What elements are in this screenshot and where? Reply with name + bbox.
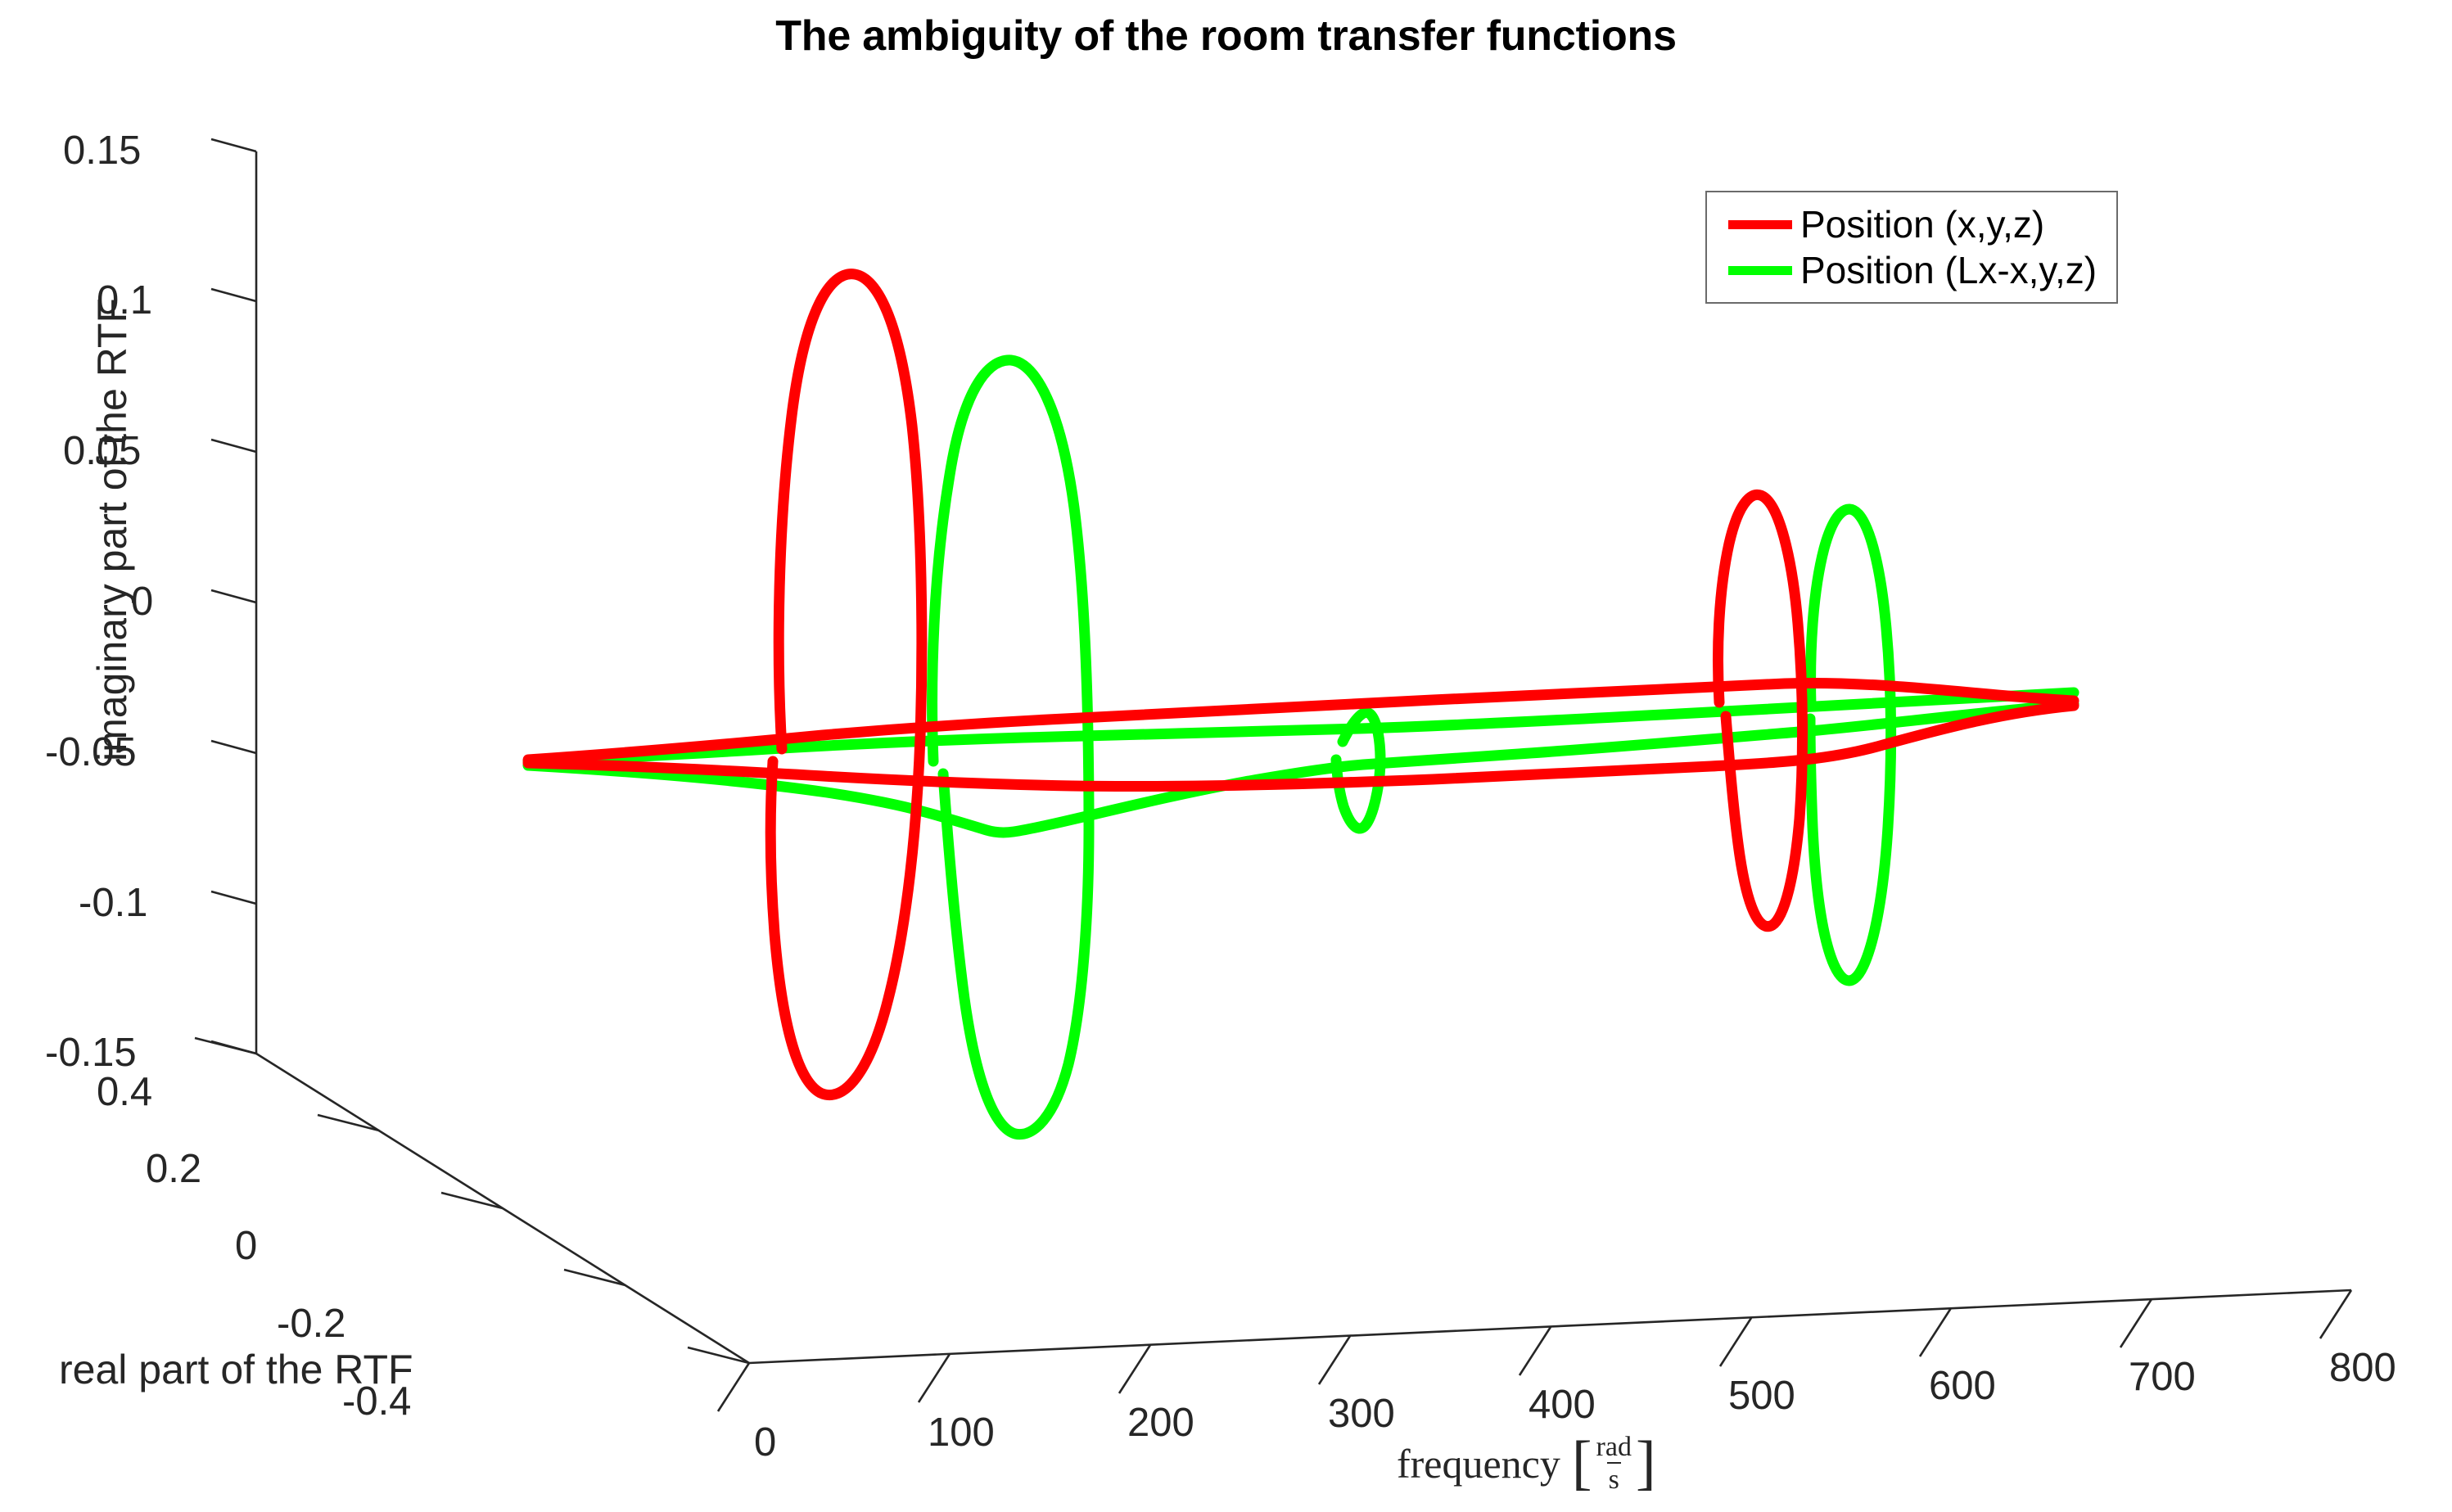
x-tick-label: 300 (1328, 1394, 1395, 1434)
x-tick-label: 700 (2129, 1357, 2196, 1397)
x-axis-title-text: frequency (1397, 1440, 1560, 1487)
bracket-open: [ (1572, 1442, 1592, 1485)
legend-label: Position (Lx-x,y,z) (1800, 248, 2097, 292)
x-tick-label: 200 (1127, 1403, 1194, 1443)
z-tick-label: -0.1 (79, 883, 147, 923)
series-green (528, 360, 2074, 1135)
x-tick-label: 400 (1529, 1385, 1596, 1425)
z-tick-label: -0.15 (45, 1033, 137, 1073)
legend[interactable]: Position (x,y,z) Position (Lx-x,y,z) (1705, 191, 2118, 304)
z-tick-label: 0.15 (63, 131, 141, 171)
y-tick-label: -0.2 (277, 1304, 345, 1344)
unit-numerator: rad (1595, 1433, 1633, 1462)
bracket-close: ] (1636, 1442, 1656, 1485)
x-tick-label: 500 (1728, 1376, 1795, 1416)
y-tick-label: 0 (235, 1226, 257, 1266)
legend-item-position-lxxyz[interactable]: Position (Lx-x,y,z) (1707, 250, 2097, 290)
x-tick-label: 100 (928, 1413, 995, 1453)
y-tick-label: 0.4 (97, 1072, 152, 1113)
x-axis-title: frequency [ rad s ] (1397, 1433, 1656, 1495)
legend-item-position-xyz[interactable]: Position (x,y,z) (1707, 205, 2044, 244)
y-axis-title: real part of the RTF (59, 1349, 413, 1390)
axis-z-ticks (211, 139, 256, 1054)
x-tick-label: 800 (2329, 1348, 2396, 1388)
legend-swatch-red-icon (1728, 220, 1792, 229)
x-axis-unit: [ rad s ] (1572, 1433, 1656, 1495)
unit-fraction: rad s (1592, 1433, 1636, 1495)
x-tick-label: 600 (1929, 1366, 1996, 1406)
legend-swatch-green-icon (1728, 266, 1792, 275)
figure-canvas: The ambiguity of the room transfer funct… (0, 0, 2452, 1512)
x-tick-label: 0 (754, 1423, 776, 1463)
y-tick-label: 0.2 (146, 1149, 201, 1189)
legend-label: Position (x,y,z) (1800, 202, 2044, 246)
axis-x-line (749, 1290, 2351, 1363)
z-axis-title: imaginary part of the RTF (92, 243, 133, 816)
unit-denominator: s (1607, 1462, 1621, 1494)
